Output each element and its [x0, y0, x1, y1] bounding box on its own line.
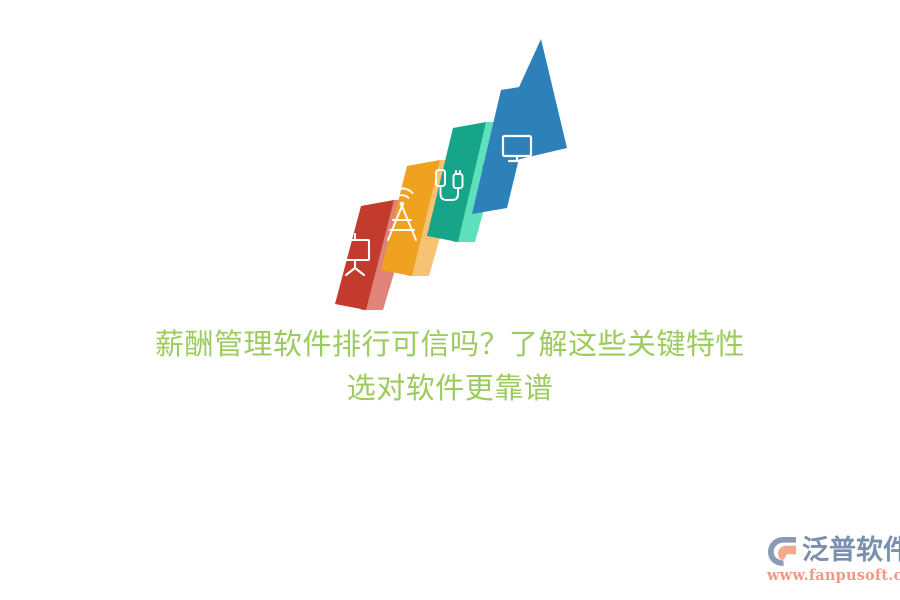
brand-url: www.fanpusoft.com: [767, 567, 894, 585]
brand-name: 泛普软件: [802, 536, 900, 566]
fanpu-logo-icon: [766, 535, 800, 567]
page-root: 薪酬管理软件排行可信吗？了解这些关键特性 选对软件更靠谱 泛普软件 www.fa…: [0, 0, 900, 600]
page-title-line-1: 薪酬管理软件排行可信吗？了解这些关键特性: [0, 322, 900, 366]
page-title: 薪酬管理软件排行可信吗？了解这些关键特性 选对软件更靠谱: [0, 322, 900, 410]
page-title-line-2: 选对软件更靠谱: [0, 366, 900, 410]
brand-row: 泛普软件: [766, 533, 894, 569]
growth-arrow-chart-graphic: [330, 28, 590, 318]
brand-watermark: 泛普软件 www.fanpusoft.com: [766, 533, 894, 591]
